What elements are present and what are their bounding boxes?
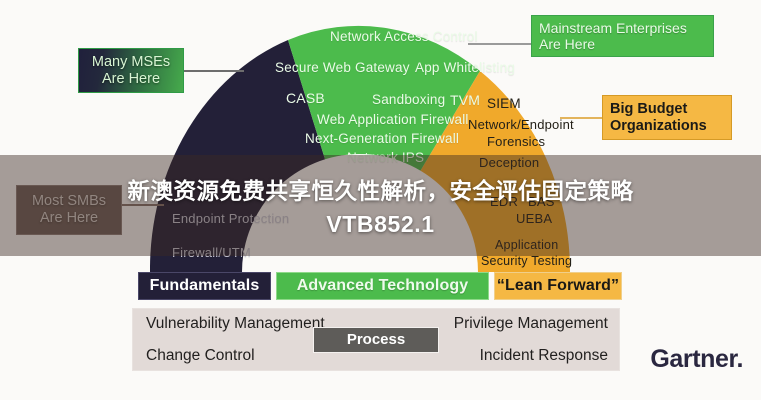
tier-advanced-technology[interactable]: Advanced Technology xyxy=(276,272,489,300)
callout-big-budget-line2: Organizations xyxy=(610,118,724,135)
arch-item-endpoint-protection: Endpoint Protection xyxy=(172,211,289,226)
callout-big-budget-organizations[interactable]: Big Budget Organizations xyxy=(602,95,732,140)
arch-item-security-testing: Security Testing xyxy=(481,254,572,268)
process-change-control: Change Control xyxy=(146,347,255,365)
tier-lean-forward[interactable]: “Lean Forward” xyxy=(494,272,622,300)
callout-many-mses-line1: Many MSEs xyxy=(86,54,176,71)
callout-mainstream-line1: Mainstream Enterprises xyxy=(539,20,706,36)
arch-item-tvm: TVM xyxy=(450,92,480,108)
arch-item-casb: CASB xyxy=(286,90,325,106)
diagram-canvas: Network Access Control Secure Web Gatewa… xyxy=(0,0,761,400)
arch-item-edr: EDR xyxy=(490,194,518,209)
callout-many-mses[interactable]: Many MSEs Are Here xyxy=(78,48,184,93)
callout-mainstream-line2: Are Here xyxy=(539,36,706,52)
arch-item-application: Application xyxy=(495,238,558,252)
arch-item-network-ips: Network IPS xyxy=(347,150,424,165)
process-incident-response: Incident Response xyxy=(480,347,608,365)
arch-item-secure-web-gateway: Secure Web Gateway xyxy=(275,60,410,75)
arch-item-forensics: Forensics xyxy=(487,134,545,149)
connector-mainstream xyxy=(468,43,532,45)
arch-item-network-access-control: Network Access Control xyxy=(330,29,478,44)
arch-item-app-whitelisting: App Whitelisting xyxy=(415,60,515,75)
callout-most-smbs-line1: Most SMBs xyxy=(24,193,114,210)
gartner-wordmark: Gartner xyxy=(650,345,736,373)
arch-item-bas: BAS xyxy=(528,194,555,209)
arch-item-deception: Deception xyxy=(479,155,539,170)
callout-big-budget-line1: Big Budget xyxy=(610,101,724,118)
arch-item-next-generation-firewall: Next-Generation Firewall xyxy=(305,131,459,146)
arch-item-siem: SIEM xyxy=(487,96,521,111)
tier-fundamentals[interactable]: Fundamentals xyxy=(138,272,271,300)
process-privilege-management: Privilege Management xyxy=(454,315,608,333)
arch-item-network-endpoint: Network/Endpoint xyxy=(468,117,574,132)
connector-big-budget xyxy=(560,117,603,119)
connector-most-smbs xyxy=(122,204,164,206)
process-vulnerability-management: Vulnerability Management xyxy=(146,315,325,333)
callout-most-smbs-line2: Are Here xyxy=(24,210,114,227)
connector-many-mses xyxy=(184,70,244,72)
process-panel: Vulnerability Management Privilege Manag… xyxy=(132,308,620,371)
callout-most-smbs[interactable]: Most SMBs Are Here xyxy=(16,185,122,235)
arch-item-web-application-firewall: Web Application Firewall xyxy=(317,112,469,127)
callout-many-mses-line2: Are Here xyxy=(86,71,176,88)
arch-item-firewall-utm: Firewall/UTM xyxy=(172,245,251,260)
arch-item-sandboxing: Sandboxing xyxy=(372,92,445,107)
gartner-logo: Gartner. xyxy=(650,345,743,374)
arch-item-ueba: UEBA xyxy=(516,211,552,226)
callout-mainstream-enterprises[interactable]: Mainstream Enterprises Are Here xyxy=(531,15,714,57)
gartner-dot: . xyxy=(736,345,743,373)
security-maturity-arch: Network Access Control Secure Web Gatewa… xyxy=(150,14,570,272)
process-center-label: Process xyxy=(313,327,439,353)
